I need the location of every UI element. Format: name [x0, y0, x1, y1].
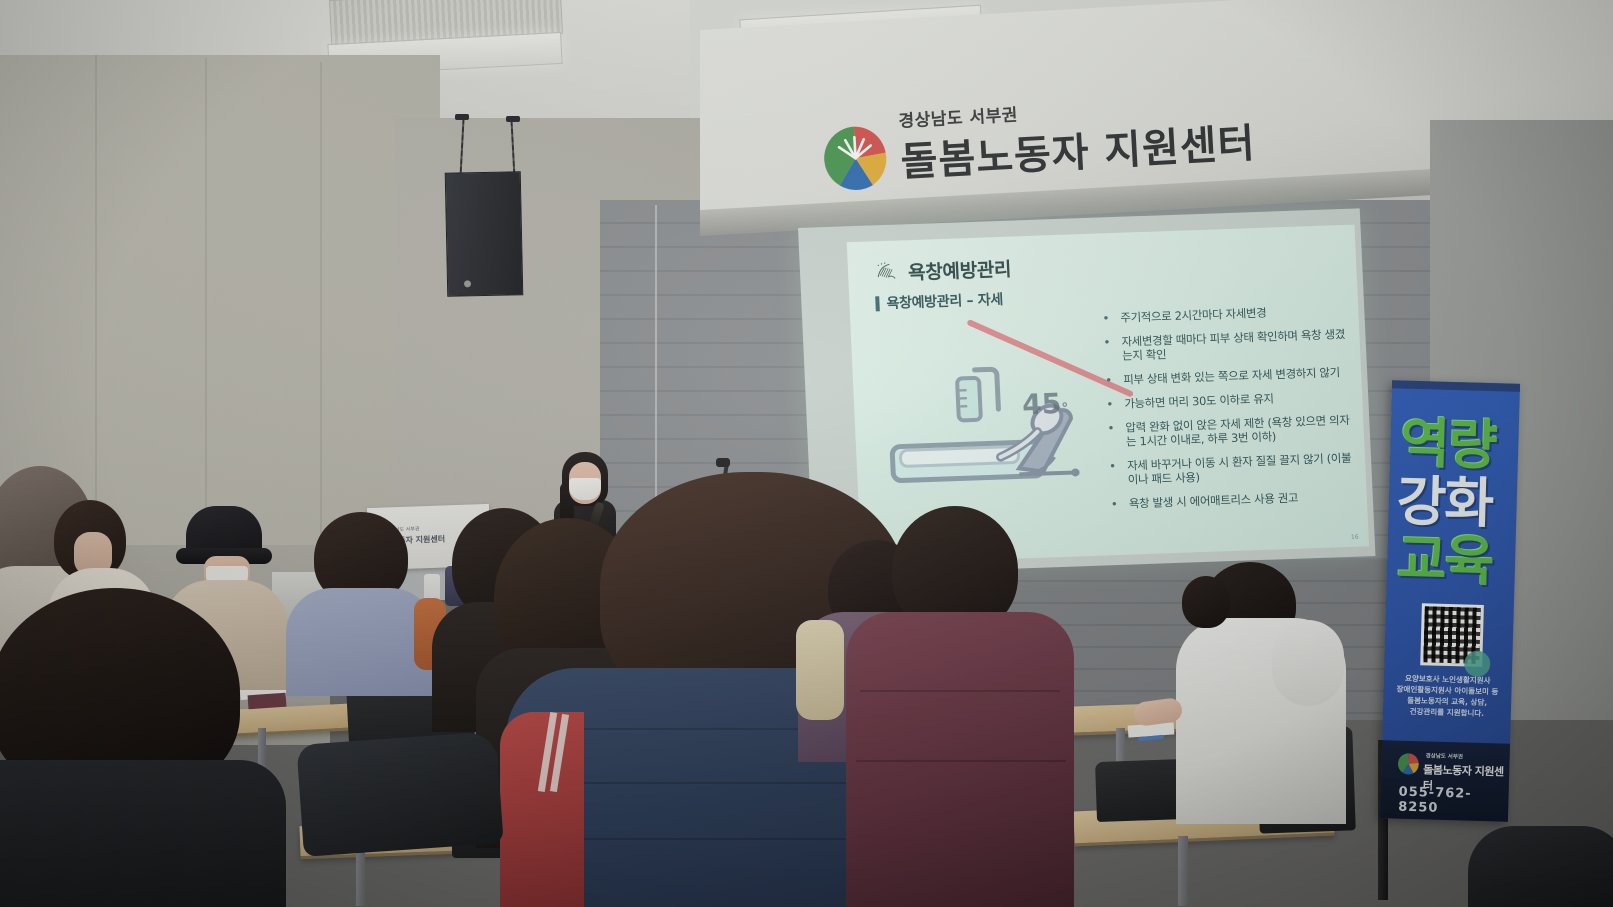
attendee-front-left-body [0, 760, 286, 907]
subtitle-accent-bar [875, 296, 880, 311]
roll-up-banner: 역량 강화 교육 요양보호사 노인생활지원사 장애인활동지원사 아이돌보미 등 … [1380, 380, 1520, 821]
banner-title-line-3: 교육 [1396, 535, 1493, 588]
slide-title-row: 욕창예방관리 [874, 255, 1012, 287]
speaker-led-icon [464, 280, 471, 287]
bullet-marker-icon: • [1103, 335, 1111, 363]
slide-bullet-list: • 주기적으로 2시간마다 자세변경 • 자세변경할 때마다 피부 상태 확인하… [1102, 303, 1357, 521]
bullet-marker-icon: • [1109, 459, 1117, 487]
notebook [248, 693, 287, 710]
slide-bullet: • 압력 완화 없이 앉은 자세 제한 (욕창 있으면 의자는 1시간 이내로,… [1107, 413, 1354, 450]
slide-bullet: • 자세 바꾸거나 이동 시 환자 질질 끌지 않기 (이불이나 패드 사용) [1109, 451, 1356, 488]
slide-bullet: • 주기적으로 2시간마다 자세변경 [1102, 303, 1348, 326]
bullet-marker-icon: • [1106, 397, 1114, 411]
slide-subtitle-row: 욕창예방관리 – 자세 [875, 289, 1003, 313]
lecture-room-photo: 경상남도 서부권 돌봄노동자 지원센터 [0, 0, 1613, 907]
bullet-text: 압력 완화 없이 앉은 자세 제한 (욕창 있으면 의자는 1시간 이내로, 하… [1125, 413, 1354, 449]
angle-label: 45° [1022, 387, 1069, 422]
bullet-marker-icon: • [1102, 311, 1110, 325]
banner-title-line-2: 강화 [1396, 476, 1493, 529]
banner-body-line: 건강관리를 지원합니다. [1389, 705, 1505, 719]
banner-title-line-1: 역량 [1400, 419, 1497, 472]
bullet-marker-icon: • [1111, 497, 1119, 511]
slide-bullet: • 자세변경할 때마다 피부 상태 확인하며 욕창 생겼는지 확인 [1103, 327, 1350, 364]
banner-footer-phone: 055-762-8250 [1398, 785, 1509, 818]
hand-care-icon [874, 260, 901, 285]
banner-body-text: 요양보호사 노인생활지원사 장애인활동지원사 아이돌보미 등 돌봄노동자의 교육… [1389, 672, 1506, 719]
coat-on-chair [296, 731, 503, 857]
slide-subtitle: 욕창예방관리 – 자세 [886, 289, 1003, 313]
slide-bullet: • 피부 상태 변화 있는 쪽으로 자세 변경하지 않기 [1105, 365, 1351, 388]
banner-footer: 경상남도 서부권 돌봄노동자 지원센터 055-762-8250 [1380, 740, 1510, 822]
slide-page-number: 16 [1351, 534, 1359, 541]
slide-title: 욕창예방관리 [907, 255, 1011, 286]
bullet-text: 자세 바꾸거나 이동 시 환자 질질 끌지 않기 (이불이나 패드 사용) [1127, 451, 1356, 487]
red-sleeve [500, 712, 584, 907]
speaker-chain-mount [506, 116, 520, 122]
banner-footer-subtitle: 경상남도 서부권 [1426, 751, 1464, 760]
attendee-back-right-hair [1182, 576, 1230, 628]
slide-bullet: • 욕창 발생 시 에어매트리스 사용 권고 [1111, 489, 1357, 512]
face-mask-icon [569, 478, 601, 500]
projection-screen: 욕창예방관리 욕창예방관리 – 자세 [798, 208, 1375, 575]
puffer-quilt-line [860, 690, 1060, 692]
qr-code [1420, 603, 1484, 667]
slide-bullet: • 가능하면 머리 30도 이하로 유지 [1106, 389, 1352, 412]
bullet-marker-icon: • [1107, 421, 1115, 449]
care-center-logo [1397, 753, 1420, 776]
bullet-marker-icon: • [1105, 373, 1113, 387]
attendee-right-edge [1468, 826, 1613, 907]
bullet-text: 주기적으로 2시간마다 자세변경 [1120, 306, 1266, 325]
desk-leg [1178, 836, 1188, 906]
puffer-hood [1272, 620, 1344, 706]
banner-accent-dot [1464, 650, 1491, 677]
desk-leg [356, 850, 365, 906]
puffer-quilt-line [856, 760, 1066, 762]
bullet-text: 자세변경할 때마다 피부 상태 확인하며 욕창 생겼는지 확인 [1121, 327, 1350, 363]
bullet-text: 욕창 발생 시 에어매트리스 사용 권고 [1129, 491, 1299, 511]
hospital-bed-45-degree-prohibited-icon [878, 344, 1095, 511]
wall-cable [655, 205, 657, 535]
wall-panel-seam [320, 62, 322, 582]
bullet-text: 가능하면 머리 30도 이하로 유지 [1124, 392, 1274, 411]
mic-head-icon [716, 458, 730, 467]
care-center-logo [821, 124, 890, 193]
bullet-text: 피부 상태 변화 있는 쪽으로 자세 변경하지 않기 [1123, 365, 1340, 387]
ceiling-speaker [445, 171, 524, 297]
jacket-cream-panel [796, 620, 844, 720]
